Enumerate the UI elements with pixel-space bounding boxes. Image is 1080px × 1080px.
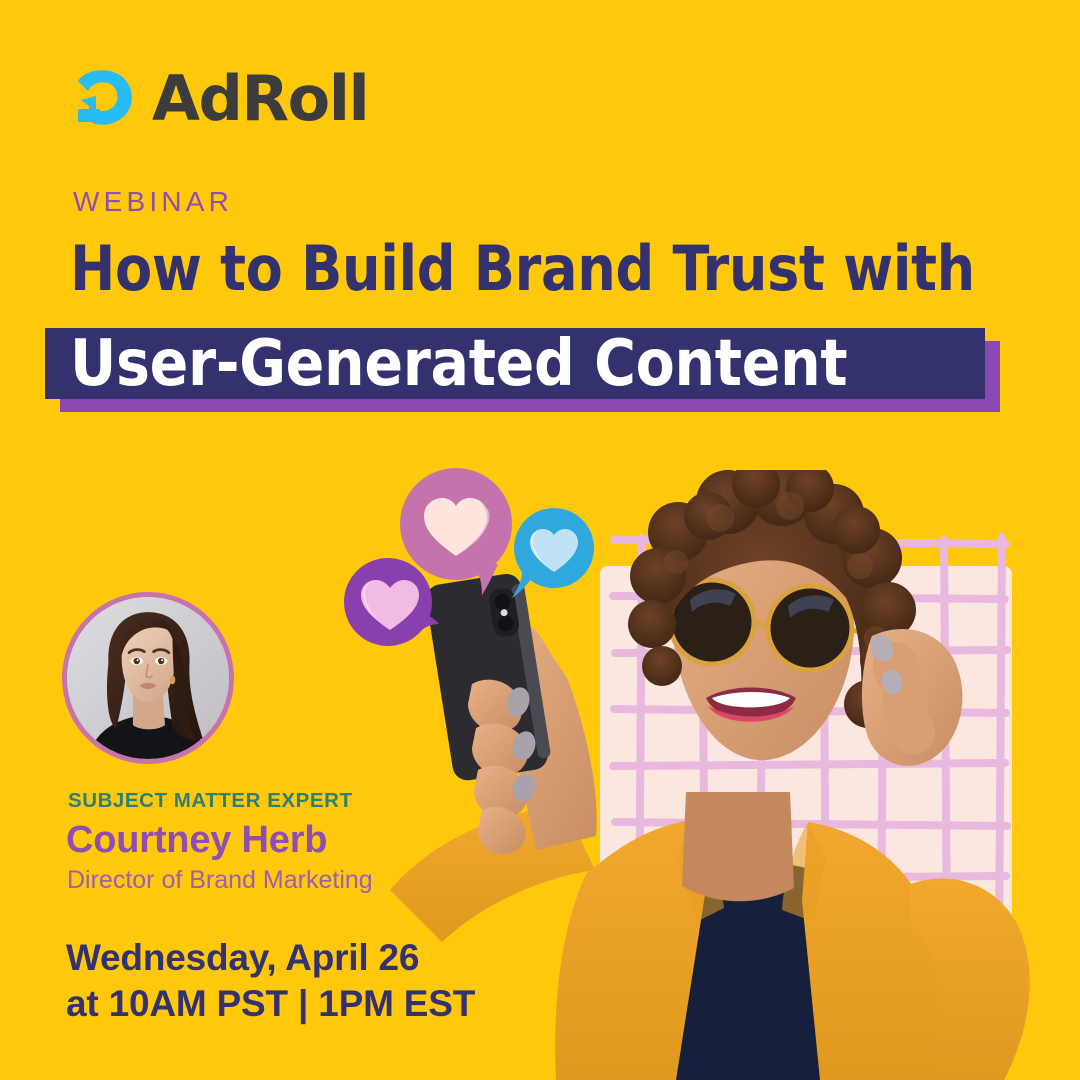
heart-bubble-blue-icon: [508, 506, 594, 598]
avatar: [62, 592, 234, 764]
speaker-role-label: SUBJECT MATTER EXPERT: [68, 791, 353, 812]
speaker-title: Director of Brand Marketing: [67, 864, 373, 897]
adroll-wordmark: AdRoll: [152, 68, 368, 130]
adroll-swirl-icon: [72, 68, 138, 130]
eyebrow-label: WEBINAR: [73, 188, 233, 216]
webinar-promo-card: AdRoll WEBINAR How to Build Brand Trust …: [0, 0, 1080, 1080]
schedule-date: Wednesday, April 26: [66, 935, 475, 981]
schedule-block: Wednesday, April 26 at 10AM PST | 1PM ES…: [66, 935, 475, 1026]
speaker-name: Courtney Herb: [66, 816, 327, 865]
heart-bubble-purple-icon: [344, 556, 440, 648]
adroll-logo: AdRoll: [72, 68, 368, 130]
schedule-time: at 10AM PST | 1PM EST: [66, 981, 475, 1027]
page-title-line-2: User-Generated Content: [70, 330, 976, 398]
page-title-line-1: How to Build Brand Trust with: [70, 236, 975, 303]
